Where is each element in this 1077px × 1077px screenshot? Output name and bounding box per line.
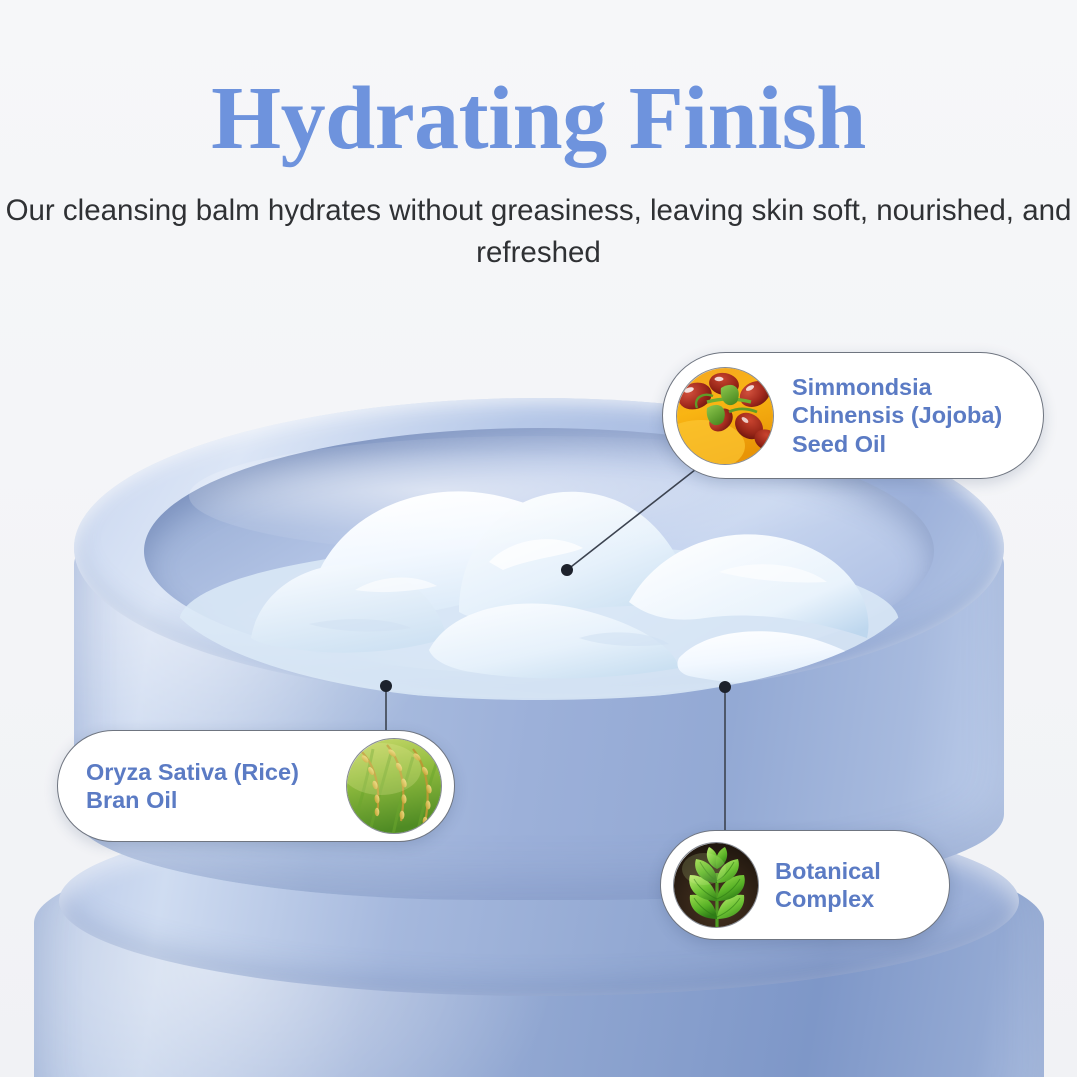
header: Hydrating Finish Our cleansing balm hydr… [0,0,1077,274]
cleansing-balm-texture [159,452,919,702]
callout-label-rice-bran: Oryza Sativa (Rice) Bran Oil [86,758,299,814]
page-title: Hydrating Finish [0,74,1077,164]
mint-leaves-thumbnail [673,842,759,928]
rice-stalks-thumbnail [346,738,442,834]
callout-card-jojoba[interactable]: Simmondsia Chinensis (Jojoba) Seed Oil [662,352,1044,479]
marketing-infographic: Hydrating Finish Our cleansing balm hydr… [0,0,1077,1077]
callout-label-botanical-complex: Botanical Complex [775,857,881,913]
callout-card-rice-bran[interactable]: Oryza Sativa (Rice) Bran Oil [57,730,455,842]
jojoba-berries-thumbnail [676,367,774,465]
callout-card-botanical-complex[interactable]: Botanical Complex [660,830,950,940]
page-subtitle: Our cleansing balm hydrates without grea… [0,190,1077,274]
callout-label-jojoba: Simmondsia Chinensis (Jojoba) Seed Oil [792,373,1002,458]
